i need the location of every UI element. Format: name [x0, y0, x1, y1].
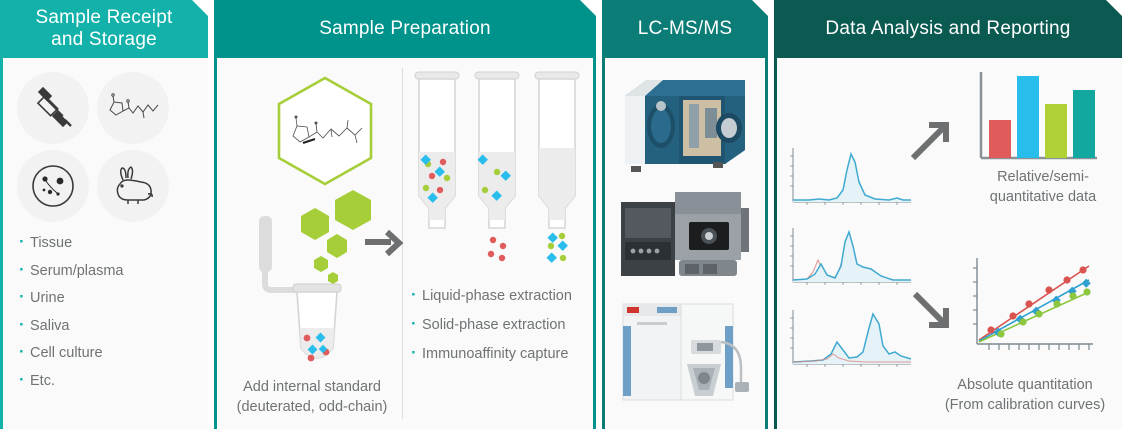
mass-spectrometer-blue-image [617, 70, 753, 174]
panel-header-sample-receipt: Sample Receipt and Storage [0, 0, 208, 58]
calibration-curve-chart [967, 254, 1099, 364]
bar [1073, 90, 1095, 158]
spe-cartridge [535, 72, 579, 263]
panel-header-lc-ms-ms: LC-MS/MS [602, 0, 768, 58]
internal-standard-caption: Add internal standard (deuterated, odd-c… [221, 378, 403, 417]
sample-type-list: Tissue Serum/plasma Urine Saliva Cell cu… [19, 228, 123, 393]
hexagon-outline-icon [279, 78, 371, 184]
extraction-method-list: Liquid-phase extraction Solid-phase extr… [411, 280, 572, 368]
spe-cartridges-illustration [409, 68, 587, 276]
bar [989, 120, 1011, 158]
panel-sample-receipt: Sample Receipt and Storage [0, 0, 208, 429]
hexagon-filled-icon [335, 190, 371, 230]
panel-title: LC-MS/MS [638, 18, 733, 40]
syringe-icon [17, 72, 89, 144]
list-item: Serum/plasma [19, 256, 123, 284]
panel-title: Sample Preparation [319, 18, 491, 40]
panel-title-line2: and Storage [51, 29, 157, 50]
panel-body-lc-ms-ms [602, 58, 768, 429]
panel-header-data-analysis: Data Analysis and Reporting [774, 0, 1122, 58]
rabbit-icon [97, 150, 169, 222]
list-item: Saliva [19, 311, 123, 339]
spe-cartridge [475, 72, 519, 261]
relative-quant-caption: Relative/semi- quantitative data [963, 168, 1122, 207]
panel-header-sample-preparation: Sample Preparation [214, 0, 596, 58]
panel-title-line1: Sample Receipt [36, 7, 173, 28]
chromatogram-1 [790, 148, 911, 205]
panel-body-data-analysis: Relative/semi- quantitative data [774, 58, 1122, 429]
list-item: Immunoaffinity capture [411, 338, 572, 367]
panel-body-sample-receipt: Tissue Serum/plasma Urine Saliva Cell cu… [0, 58, 208, 429]
arrow-up-right-icon [907, 118, 953, 164]
hexagon-filled-icon [314, 256, 328, 272]
chromatogram-3 [790, 310, 911, 367]
hexagon-filled-icon [328, 272, 338, 284]
bar [1045, 104, 1067, 158]
lc-system-gray-image [617, 188, 753, 284]
arrow-down-right-icon [907, 286, 953, 332]
hexagon-filled-icon [301, 208, 329, 240]
list-item: Liquid-phase extraction [411, 280, 572, 309]
chromatogram-stack-chart [785, 140, 917, 372]
relative-quant-bar-chart [973, 70, 1101, 170]
absolute-quant-caption: Absolute quantitation (From calibration … [927, 376, 1122, 415]
lipid-molecule-icon [97, 72, 169, 144]
panel-body-sample-preparation: Add internal standard (deuterated, odd-c… [214, 58, 596, 429]
list-item: Cell culture [19, 338, 123, 366]
microcentrifuge-tube-icon [293, 284, 341, 358]
petri-dish-icon [17, 150, 89, 222]
panel-sample-preparation: Sample Preparation [214, 0, 596, 429]
hexagon-filled-icon [327, 234, 347, 258]
list-item: Urine [19, 283, 123, 311]
list-item: Etc. [19, 366, 123, 394]
panel-title: Data Analysis and Reporting [825, 18, 1070, 40]
internal-standard-illustration [241, 66, 409, 376]
fit-line-red [979, 266, 1089, 340]
bar [1017, 76, 1039, 158]
spe-cartridge [415, 72, 459, 228]
right-arrow-icon [365, 230, 401, 256]
list-item: Solid-phase extraction [411, 309, 572, 338]
list-item: Tissue [19, 228, 123, 256]
orbitrap-white-image [617, 298, 753, 408]
panel-data-analysis: Data Analysis and Reporting [774, 0, 1122, 429]
workflow-diagram: Sample Receipt and Storage [0, 0, 1128, 429]
sample-type-icon-grid [17, 72, 171, 222]
panel-lc-ms-ms: LC-MS/MS [602, 0, 768, 429]
chromatogram-2 [790, 228, 911, 285]
